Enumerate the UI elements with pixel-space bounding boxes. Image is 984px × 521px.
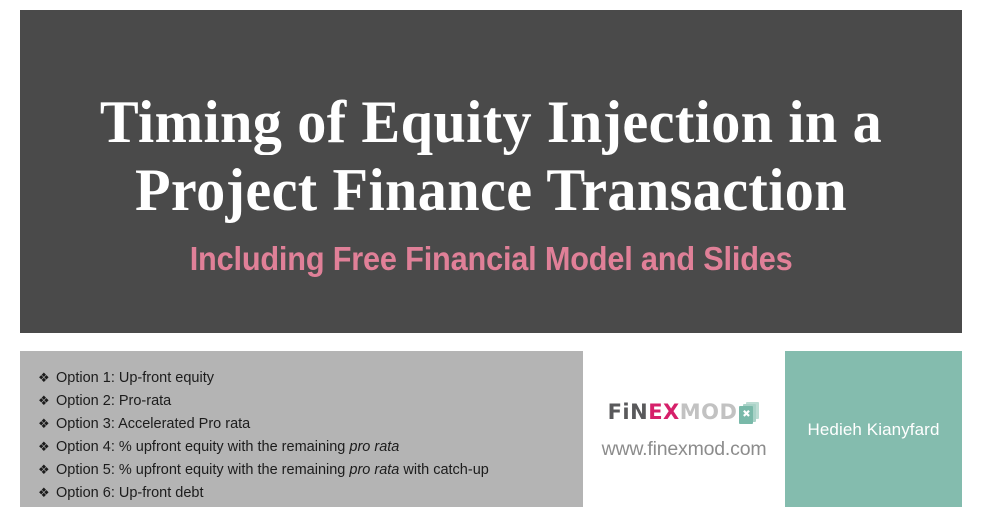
author-name: Hedieh Kianyfard [807,419,939,440]
brand-logo-area: FiNEXMOD ✖ www.finexmod.com [583,351,785,507]
list-item-label: Option 3: Accelerated Pro rata [56,415,569,433]
logo-text-ex: EX [648,402,680,423]
spreadsheet-icon: ✖ [739,402,760,424]
list-item: ❖ Option 2: Pro-rata [34,392,569,411]
list-item: ❖ Option 4: % upfront equity with the re… [34,438,569,457]
diamond-bullet-icon: ❖ [34,462,56,480]
author-panel: Hedieh Kianyfard [785,351,962,507]
list-item-label: Option 4: % upfront equity with the rema… [56,438,569,456]
page-title: Timing of Equity Injection in a Project … [20,88,962,224]
spreadsheet-x-glyph: ✖ [739,406,753,424]
diamond-bullet-icon: ❖ [34,485,56,503]
diamond-bullet-icon: ❖ [34,370,56,388]
diamond-bullet-icon: ❖ [34,393,56,411]
diamond-bullet-icon: ❖ [34,439,56,457]
list-item-label: Option 1: Up-front equity [56,369,569,387]
title-banner: Timing of Equity Injection in a Project … [20,10,962,333]
list-item-label: Option 5: % upfront equity with the rema… [56,461,569,479]
page-subtitle: Including Free Financial Model and Slide… [190,240,793,278]
logo-text-fin: FiN [608,402,649,423]
list-item: ❖ Option 6: Up-front debt [34,484,569,503]
list-item: ❖ Option 5: % upfront equity with the re… [34,461,569,480]
finexmod-logo: FiNEXMOD ✖ [608,399,761,427]
list-item: ❖ Option 1: Up-front equity [34,369,569,388]
title-line-2: Project Finance Transaction [63,156,919,224]
diamond-bullet-icon: ❖ [34,416,56,434]
title-line-1: Timing of Equity Injection in a [63,88,919,156]
list-item-label: Option 2: Pro-rata [56,392,569,410]
list-item-label: Option 6: Up-front debt [56,484,569,502]
logo-text-mod: MOD [680,402,738,423]
website-url[interactable]: www.finexmod.com [602,438,767,460]
options-list-panel: ❖ Option 1: Up-front equity ❖ Option 2: … [20,351,583,507]
list-item: ❖ Option 3: Accelerated Pro rata [34,415,569,434]
